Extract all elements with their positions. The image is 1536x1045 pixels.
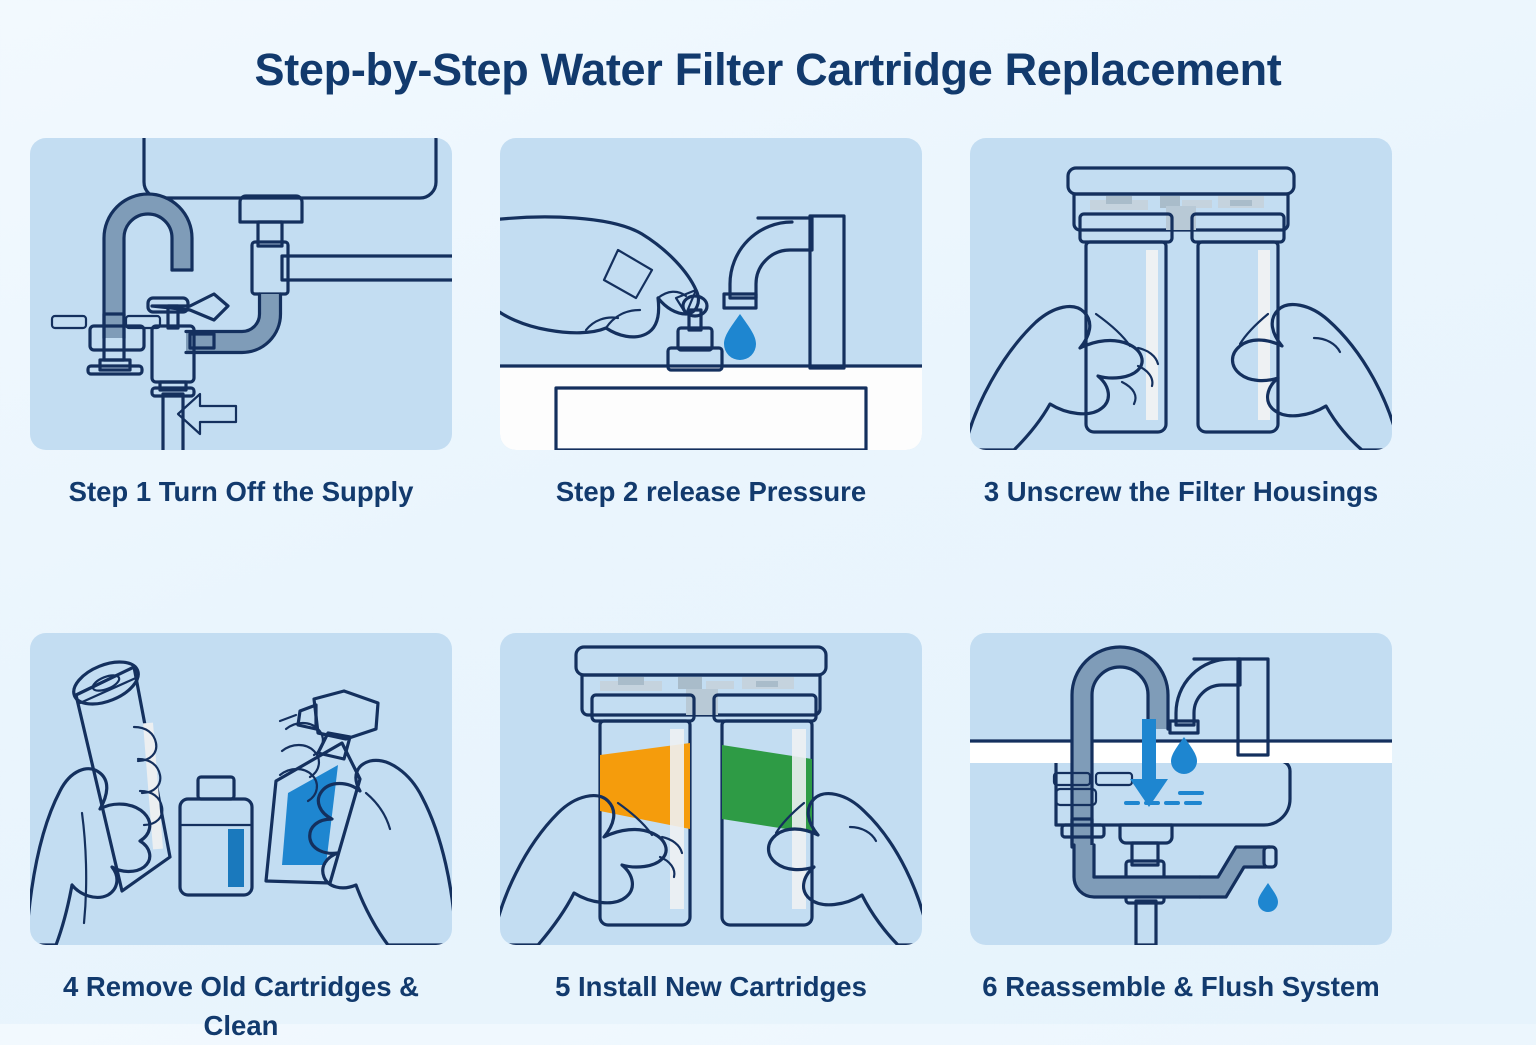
step-caption-3: 3 Unscrew the Filter Housings — [970, 472, 1392, 511]
step-caption-6: 6 Reassemble & Flush System — [970, 967, 1392, 1006]
water-drop-icon — [724, 314, 756, 360]
old-cartridge-icon — [68, 654, 170, 891]
drain-arm-icon — [282, 256, 452, 280]
unscrew-housings-illustration — [970, 138, 1392, 450]
filter-manifold-icon — [576, 647, 826, 721]
supply-line-icon — [163, 394, 183, 450]
water-drop-icon — [1258, 883, 1278, 912]
step-illustration-3 — [970, 138, 1392, 450]
step-card-4: 4 Remove Old Cartridges & Clean — [30, 633, 452, 1045]
hand-left-icon — [970, 307, 1158, 450]
steps-grid: Step 1 Turn Off the Supply — [30, 138, 1406, 1045]
under-sink-shutoff-illustration — [30, 138, 452, 450]
left-arrow-icon — [178, 394, 236, 434]
step-caption-2: Step 2 release Pressure — [500, 472, 922, 511]
gooseneck-faucet-icon — [52, 194, 192, 374]
counter-sink-icon — [500, 366, 922, 450]
step-illustration-2 — [500, 138, 922, 450]
step-card-2: Step 2 release Pressure — [500, 138, 922, 511]
step-illustration-6 — [970, 633, 1392, 945]
drain-pipe-icon — [1074, 825, 1276, 945]
water-lines-icon — [1126, 793, 1202, 803]
step-illustration-5 — [500, 633, 922, 945]
step-card-1: Step 1 Turn Off the Supply — [30, 138, 452, 511]
hand-left-icon — [30, 727, 162, 945]
step-card-5: 5 Install New Cartridges — [500, 633, 922, 1045]
step-illustration-4 — [30, 633, 452, 945]
hand-right-icon — [1233, 305, 1393, 450]
step-caption-4: 4 Remove Old Cartridges & Clean — [30, 967, 452, 1045]
cartridge-green-band-icon — [722, 721, 812, 925]
step-illustration-1 — [30, 138, 452, 450]
detergent-bottle-icon — [180, 777, 252, 895]
remove-clean-illustration — [30, 633, 452, 945]
step-caption-5: 5 Install New Cartridges — [500, 967, 922, 1006]
step-card-3: 3 Unscrew the Filter Housings — [970, 138, 1392, 511]
page-title: Step-by-Step Water Filter Cartridge Repl… — [0, 44, 1536, 96]
step-card-6: 6 Reassemble & Flush System — [970, 633, 1392, 1045]
filter-housing-icon — [1086, 242, 1278, 432]
spray-bottle-icon — [266, 691, 378, 883]
sink-basin-icon — [144, 138, 436, 222]
hand-icon — [500, 217, 698, 337]
reassemble-flush-illustration — [970, 633, 1392, 945]
release-pressure-illustration — [500, 138, 922, 450]
filter-manifold-icon — [1068, 168, 1294, 242]
infographic-page: Step-by-Step Water Filter Cartridge Repl… — [0, 0, 1536, 1024]
install-cartridges-illustration — [500, 633, 922, 945]
step-caption-1: Step 1 Turn Off the Supply — [30, 472, 452, 511]
